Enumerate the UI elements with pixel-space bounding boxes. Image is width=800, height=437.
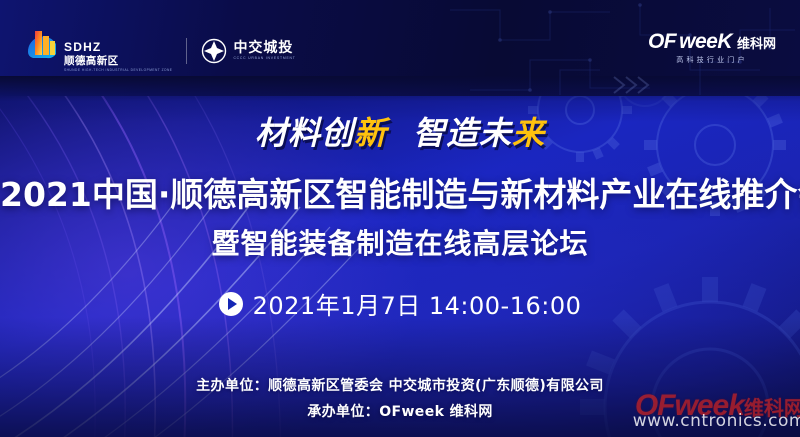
event-poster: SDHZ 顺德高新区 SHUNDE HIGH-TECH INDUSTRIAL D…: [0, 0, 800, 437]
compass-star-icon: [201, 38, 227, 64]
zjct-cn-label: 中交城投: [233, 40, 295, 55]
slogan-part2-gold: 来: [512, 114, 545, 152]
slogan-part2-white: 智造未: [413, 114, 512, 152]
zjct-logo[interactable]: 中交城投 CCCC URBAN INVESTMENT: [201, 38, 295, 64]
ofweek-logo[interactable]: OF weeK 维科网 高科技行业门户: [648, 30, 776, 65]
sdhz-logo[interactable]: SDHZ 顺德高新区 SHUNDE HIGH-TECH INDUSTRIAL D…: [24, 28, 172, 73]
play-icon[interactable]: [219, 292, 243, 316]
sponsor-logo-group: SDHZ 顺德高新区 SHUNDE HIGH-TECH INDUSTRIAL D…: [24, 28, 296, 73]
ofweek-cn-label: 维科网: [737, 33, 776, 52]
ofweek-of-label: OF: [648, 30, 676, 54]
slogan-part1-gold: 新: [354, 114, 387, 152]
sdhz-sub-label: SHUNDE HIGH-TECH INDUSTRIAL DEVELOPMENT …: [64, 68, 172, 73]
organizer-line-operator: 承办单位：OFweek 维科网: [0, 399, 800, 425]
slogan-part1-white: 材料创: [255, 114, 354, 152]
event-title-main: 2021中国·顺德高新区智能制造与新材料产业在线推介会: [0, 168, 800, 216]
chevron-decoration: [610, 74, 650, 96]
sdhz-en-label: SDHZ: [64, 41, 172, 53]
hero-slogan: 材料创新智造未来: [0, 108, 800, 154]
logo-divider: [186, 38, 187, 64]
ofweek-tagline: 高科技行业门户: [648, 55, 776, 65]
zjct-en-label: CCCC URBAN INVESTMENT: [233, 55, 295, 61]
organizer-line-host: 主办单位：顺德高新区管委会 中交城市投资(广东顺德)有限公司: [0, 373, 800, 399]
event-datetime: 2021年1月7日 14:00-16:00: [253, 286, 582, 321]
event-title-sub: 暨智能装备制造在线高层论坛: [0, 222, 800, 262]
organizer-footer: 主办单位：顺德高新区管委会 中交城市投资(广东顺德)有限公司 承办单位：OFwe…: [0, 373, 800, 425]
event-schedule-row: 2021年1月7日 14:00-16:00: [0, 286, 800, 321]
ofweek-week-label: weeK: [679, 30, 732, 54]
sdhz-mark-icon: [24, 28, 60, 62]
sdhz-cn-label: 顺德高新区: [64, 55, 172, 67]
